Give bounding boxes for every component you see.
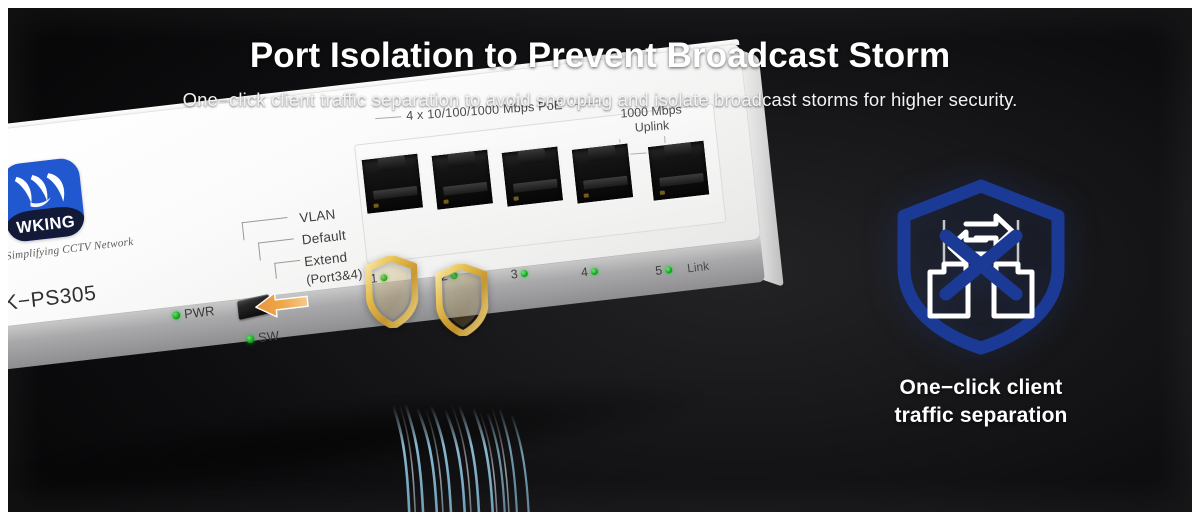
rj45-port-4[interactable] — [570, 141, 636, 206]
port-led-amber — [513, 196, 518, 201]
pwr-led-icon — [172, 311, 181, 320]
port-2-shield-badge-icon — [435, 263, 489, 337]
page-subtitle: One−click client traffic separation to a… — [8, 89, 1192, 111]
sw-led-icon — [246, 334, 255, 343]
port-number-4: 4 — [580, 264, 599, 280]
banner-canvas: Port Isolation to Prevent Broadcast Stor… — [8, 8, 1192, 512]
port-tab — [588, 144, 616, 162]
port-led-amber — [660, 190, 665, 195]
wking-logo-icon: WKING — [8, 157, 86, 244]
bracket-extend — [274, 260, 302, 279]
brand-block: WKING Simplifying CCTV Network — [8, 150, 150, 263]
rj45-port-1[interactable] — [359, 151, 425, 216]
port-number-text: 5 — [655, 263, 663, 278]
model-number: WK−PS305 — [8, 282, 98, 319]
port-number-text: 3 — [510, 267, 518, 282]
port-led-amber — [584, 193, 589, 198]
port-number-3: 3 — [510, 266, 529, 282]
vlan-legend-label-ports: (Port3&4) — [306, 267, 364, 286]
port-tab — [377, 154, 405, 172]
page-title: Port Isolation to Prevent Broadcast Stor… — [8, 36, 1192, 76]
port-pins — [583, 176, 628, 190]
port-led-amber — [443, 199, 448, 204]
product-illustration: WKING Simplifying CCTV Network WK−PS305 … — [8, 104, 808, 512]
device-shadow — [8, 363, 710, 512]
port-pins — [659, 173, 704, 187]
port-pins — [513, 179, 558, 193]
bracket-vlan — [242, 217, 290, 240]
marketing-banner: Port Isolation to Prevent Broadcast Stor… — [0, 0, 1200, 520]
port-5-led-icon — [665, 266, 673, 274]
feature-caption-line2: traffic separation — [866, 402, 1096, 430]
leader-line-left — [375, 116, 401, 119]
port-pins — [443, 182, 488, 196]
feature-caption-line1: One−click client — [866, 374, 1096, 402]
vlan-legend-label-vlan: VLAN — [299, 208, 336, 226]
rj45-port-2[interactable] — [429, 147, 495, 212]
headline-block: Port Isolation to Prevent Broadcast Stor… — [8, 36, 1192, 111]
bracket-default — [258, 238, 296, 260]
feature-block: One−click client traffic separation — [866, 176, 1096, 429]
port-pins — [373, 186, 418, 200]
port-number-text: 4 — [580, 265, 588, 280]
vlan-legend-label-default: Default — [301, 228, 346, 247]
feature-caption: One−click client traffic separation — [866, 374, 1096, 429]
sw-label: SW — [257, 328, 279, 345]
rj45-port-5-uplink[interactable] — [646, 138, 712, 203]
port-1-shield-badge-icon — [365, 255, 419, 329]
port-4-led-icon — [591, 268, 599, 276]
rj45-port-3[interactable] — [499, 144, 565, 209]
port-3-led-icon — [520, 270, 528, 278]
port-number-5: 5 — [655, 262, 674, 278]
link-label: Link — [686, 259, 709, 275]
port-tab — [447, 150, 475, 168]
port-tab — [664, 141, 692, 159]
port-isolation-shield-icon — [888, 176, 1074, 358]
status-led-sw: SW — [245, 327, 279, 347]
port-led-amber — [373, 203, 378, 208]
port-tab — [517, 147, 545, 165]
vlan-legend-label-extend: Extend — [304, 250, 348, 269]
